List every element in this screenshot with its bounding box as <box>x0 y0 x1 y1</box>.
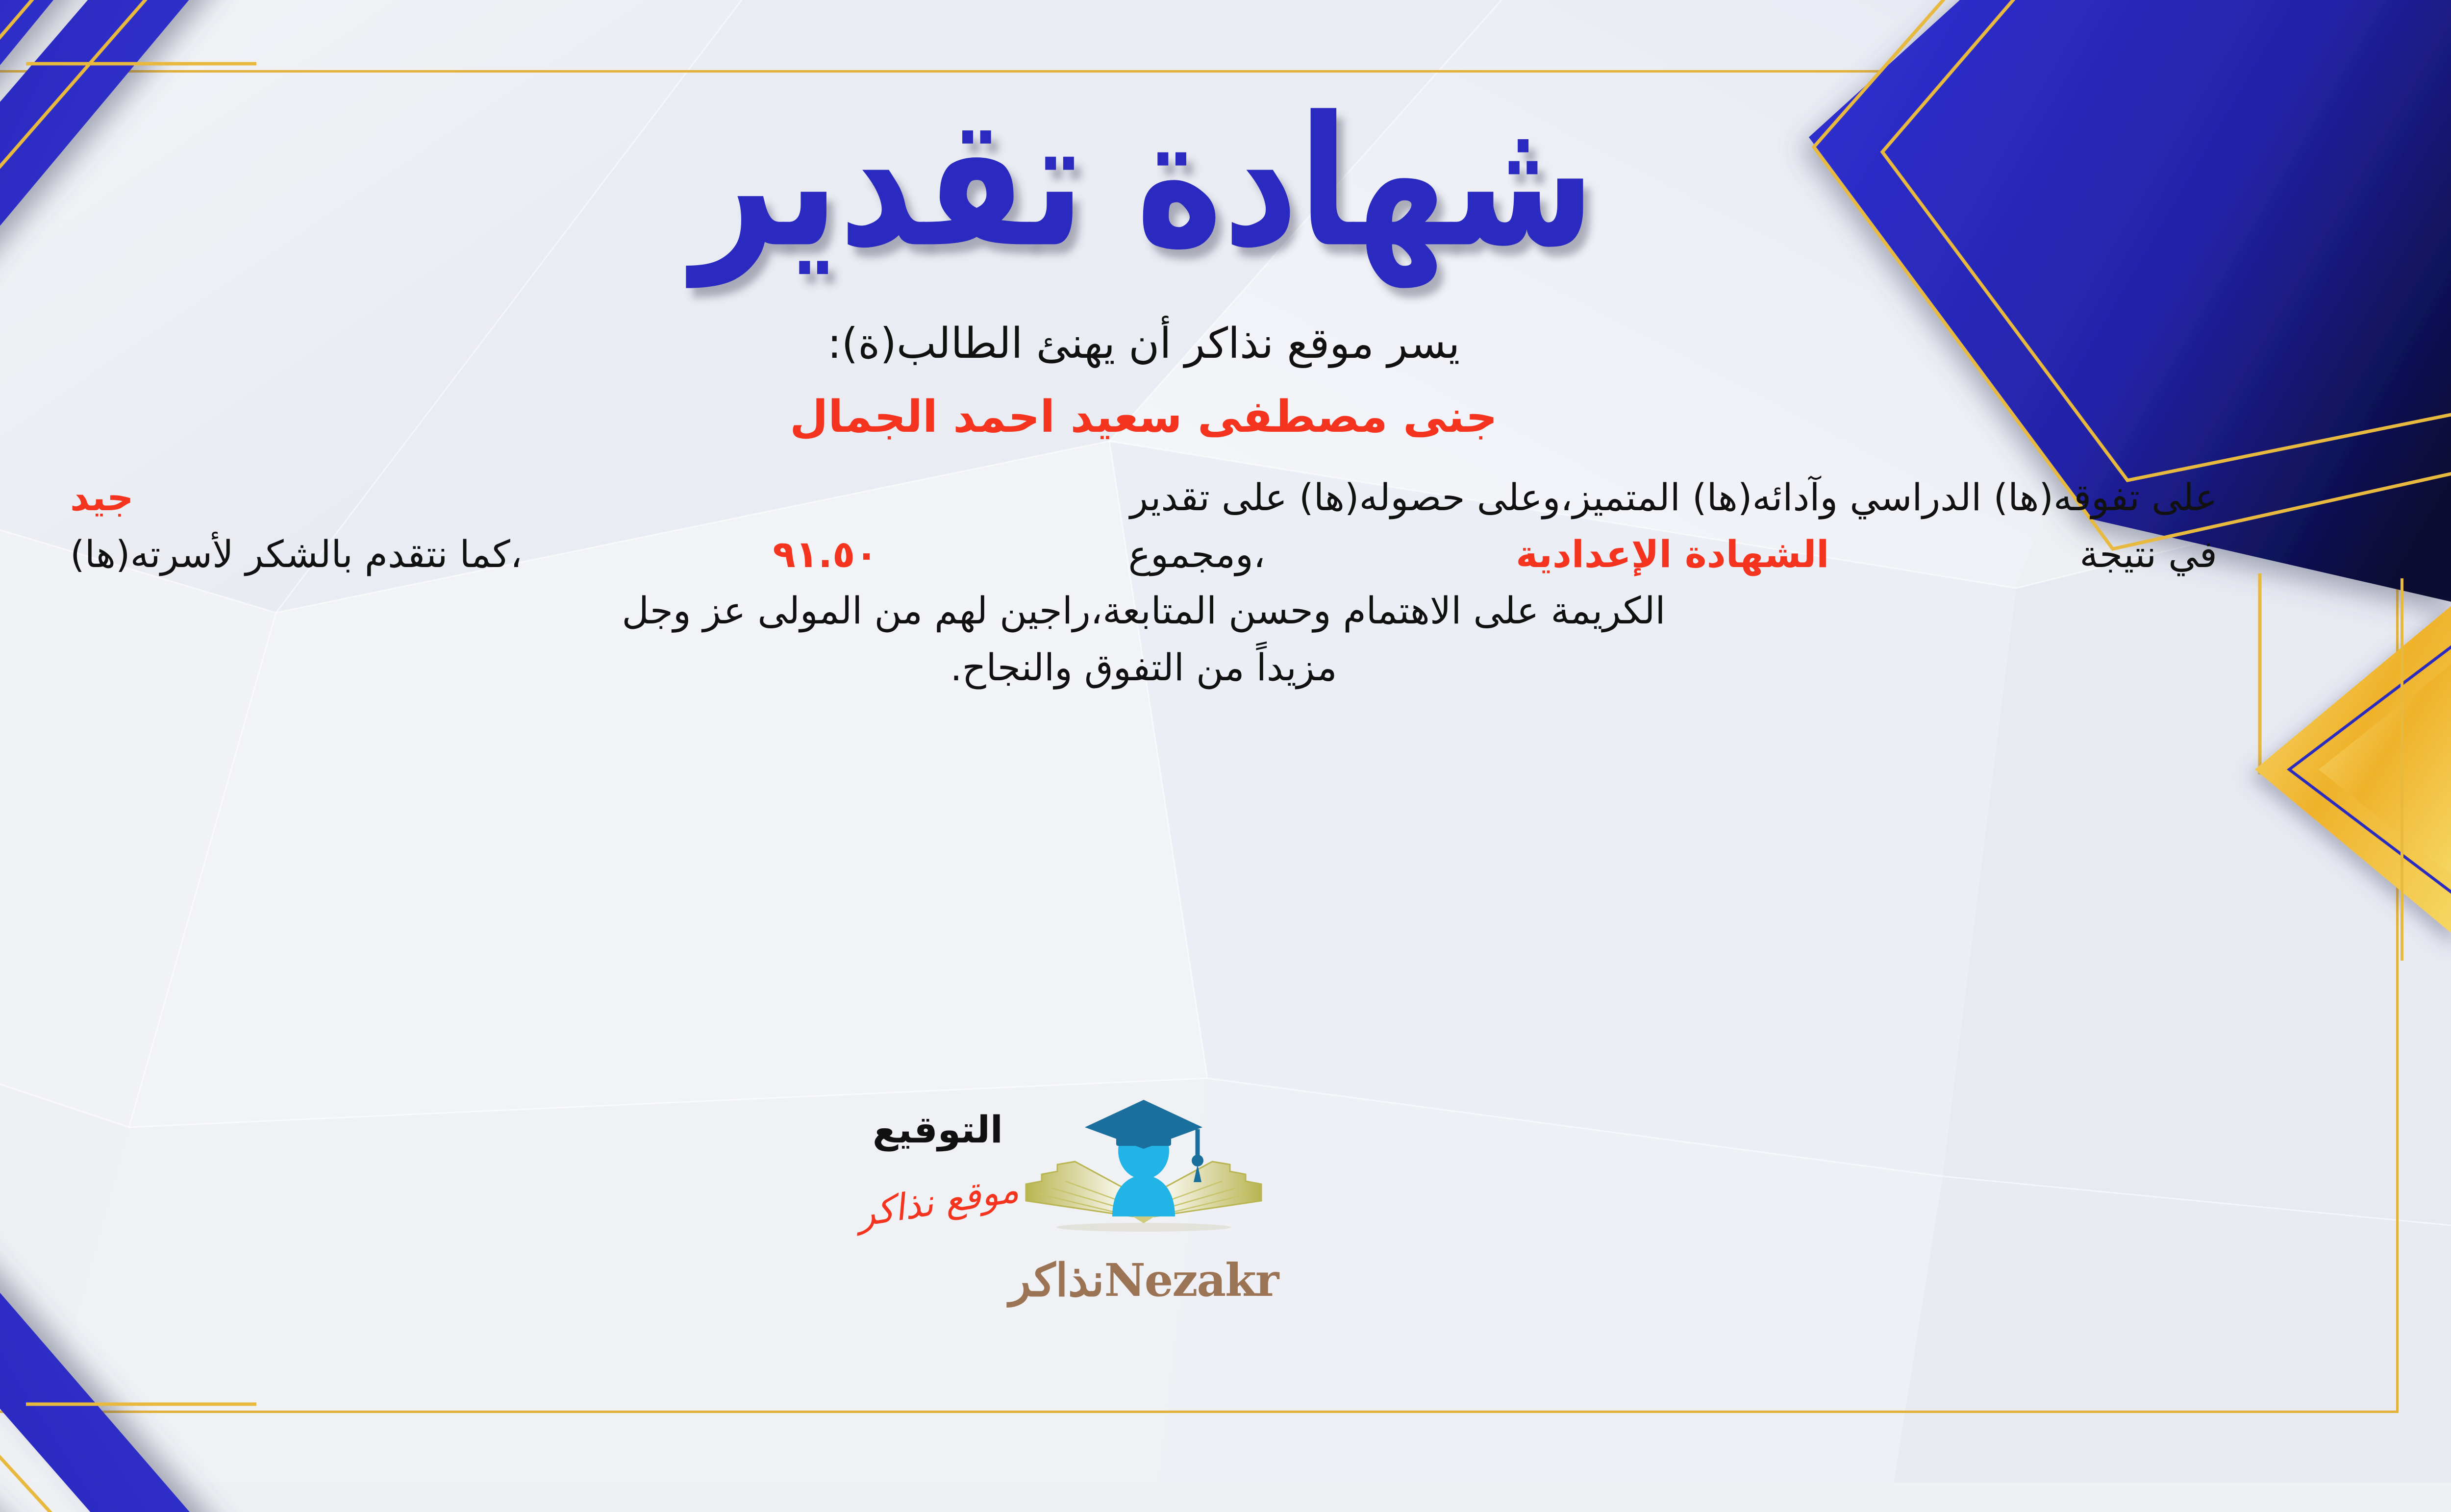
certificate-footer: التوقيع موقع نذاكر <box>0 1088 2379 1363</box>
exam-name-value: الشهادة الإعدادية <box>1516 526 1829 583</box>
total-label-text: ،ومجموع <box>1128 526 1266 583</box>
certificate-title: شهادة تقدير <box>0 88 2379 276</box>
achievement-text-part-1: على تفوقه(ها) الدراسي وآدائه(ها) المتميز… <box>1130 469 2217 526</box>
student-name: جنى مصطفى سعيد احمد الجمال <box>70 391 2217 444</box>
total-score-value: ٩١.٥٠ <box>773 526 877 583</box>
paragraph-line-1: على تفوقه(ها) الدراسي وآدائه(ها) المتميز… <box>70 469 2217 526</box>
certificate-body: يسر موقع نذاكر أن يهنئ الطالب(ة): جنى مص… <box>70 319 2217 695</box>
logo-wordmark: Nezakrنذاكر <box>943 1254 1345 1307</box>
thanks-text-part: ،كما نتقدم بالشكر لأسرته(ها) <box>70 526 522 583</box>
grade-value: جيد <box>70 469 134 526</box>
result-prefix-text: في نتيجة <box>2079 526 2217 583</box>
paragraph-line-4: مزيداً من التفوق والنجاح. <box>70 639 2217 696</box>
certificate-content: شهادة تقدير يسر موقع نذاكر أن يهنئ الطال… <box>0 74 2379 1407</box>
paragraph-line-2: في نتيجة الشهادة الإعدادية ،ومجموع ٩١.٥٠… <box>70 526 2217 583</box>
achievement-paragraph: على تفوقه(ها) الدراسي وآدائه(ها) المتميز… <box>70 469 2217 695</box>
intro-line: يسر موقع نذاكر أن يهنئ الطالب(ة): <box>70 319 2217 369</box>
paragraph-line-3: الكريمة على الاهتمام وحسن المتابعة،راجين… <box>70 582 2217 639</box>
graduate-on-book-logo-icon <box>1006 1242 1281 1252</box>
site-logo: Nezakrنذاكر <box>943 1088 1345 1307</box>
closing-wish-text: مزيداً من التفوق والنجاح. <box>950 639 1337 696</box>
graduate-on-book-icon <box>1006 1088 1281 1250</box>
logo-latin-text: Nezakr <box>1104 1254 1278 1307</box>
logo-arabic-text: نذاكر <box>1009 1254 1104 1307</box>
family-thanks-text: الكريمة على الاهتمام وحسن المتابعة،راجين… <box>622 582 1665 639</box>
